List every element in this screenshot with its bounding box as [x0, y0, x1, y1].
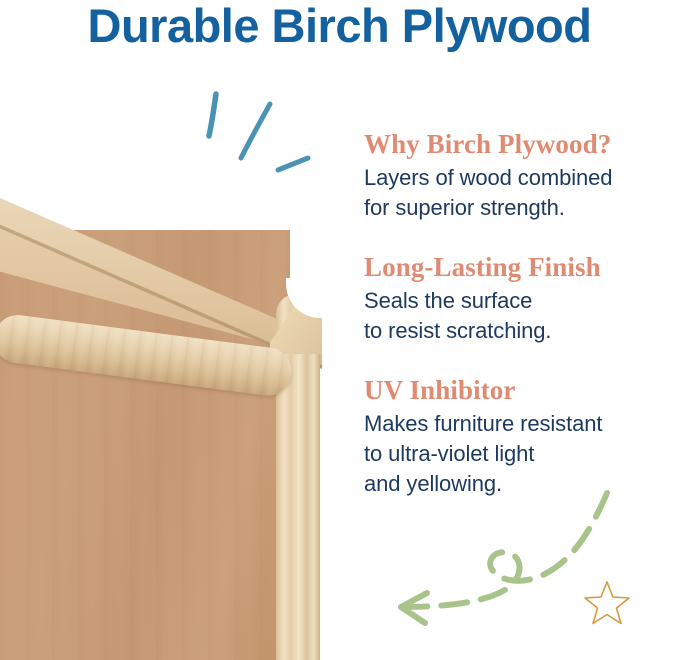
feature-body: Makes furniture resistant to ultra-viole… — [364, 409, 676, 499]
feature-heading: UV Inhibitor — [364, 374, 676, 406]
star-outline-icon — [583, 578, 631, 626]
sparkle-lines-icon — [198, 86, 328, 186]
feature-block-uv-inhibitor: UV Inhibitor Makes furniture resistant t… — [364, 374, 676, 499]
feature-body: Seals the surface to resist scratching. — [364, 286, 676, 346]
feature-block-long-lasting-finish: Long-Lasting Finish Seals the surface to… — [364, 251, 676, 346]
feature-body-line: Makes furniture resistant — [364, 409, 676, 439]
feature-block-why-birch-plywood: Why Birch Plywood? Layers of wood combin… — [364, 128, 676, 223]
feature-heading: Long-Lasting Finish — [364, 251, 676, 283]
feature-body-line: to resist scratching. — [364, 316, 676, 346]
infographic-page: Durable Birch Plywood — [0, 0, 679, 660]
feature-body-line: to ultra-violet light — [364, 439, 676, 469]
feature-heading: Why Birch Plywood? — [364, 128, 676, 160]
feature-body-line: for superior strength. — [364, 193, 676, 223]
page-title: Durable Birch Plywood — [0, 0, 679, 54]
feature-body-line: Layers of wood combined — [364, 163, 676, 193]
feature-body-line: and yellowing. — [364, 469, 676, 499]
feature-body-line: Seals the surface — [364, 286, 676, 316]
feature-body: Layers of wood combined for superior str… — [364, 163, 676, 223]
